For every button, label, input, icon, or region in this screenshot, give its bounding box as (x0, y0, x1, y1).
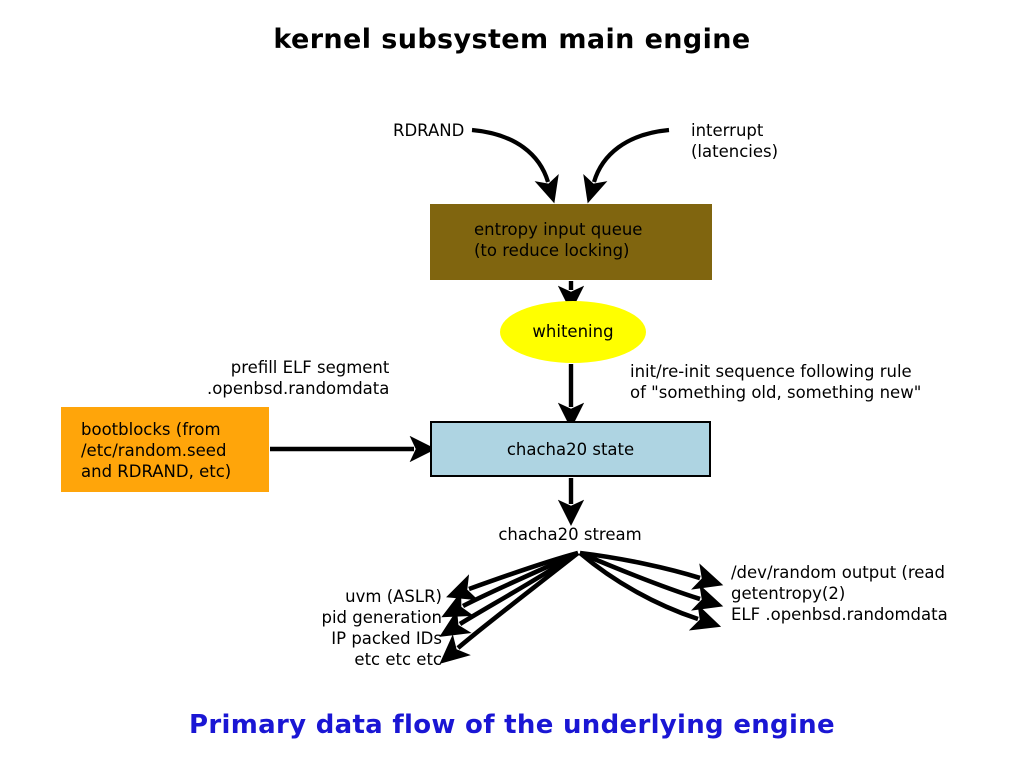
label-prefill-elf-segment: prefill ELF segment .openbsd.randomdata (207, 357, 389, 399)
node-entropy-input-queue-label: entropy input queue (to reduce locking) (474, 219, 642, 261)
node-chacha20-state[interactable]: chacha20 state (430, 421, 711, 477)
diagram-caption: Primary data flow of the underlying engi… (0, 710, 1024, 740)
edge-stream-fan-out-left-2 (463, 553, 578, 606)
label-consumers-left: uvm (ASLR) pid generation IP packed IDs … (310, 586, 442, 670)
edge-stream-fan-out-right-3 (580, 553, 698, 619)
node-chacha20-state-label: chacha20 state (432, 439, 709, 460)
label-init-reinit-sequence: init/re-init sequence following rule of … (630, 361, 921, 403)
node-whitening[interactable]: whitening (500, 301, 646, 363)
edge-stream-fan-out-right-2 (580, 553, 700, 599)
label-consumers-right: /dev/random output (read getentropy(2) E… (731, 562, 948, 625)
label-rdrand: RDRAND (393, 120, 464, 141)
node-bootblocks-label: bootblocks (from /etc/random.seed and RD… (81, 419, 231, 482)
edge-stream-fan-out-left-4 (458, 553, 578, 648)
edge-stream-fan-out-left-1 (469, 553, 578, 589)
node-whitening-label: whitening (500, 321, 646, 342)
page-title: kernel subsystem main engine (0, 24, 1024, 55)
edge-interrupt-to-entropy-queue (594, 130, 669, 182)
node-chacha20-stream-label: chacha20 stream (306, 524, 834, 545)
edge-rdrand-to-entropy-queue (472, 130, 548, 182)
diagram-canvas: kernel subsystem main engine (0, 0, 1024, 768)
node-bootblocks[interactable]: bootblocks (from /etc/random.seed and RD… (61, 407, 269, 492)
node-entropy-input-queue[interactable]: entropy input queue (to reduce locking) (430, 204, 712, 280)
label-interrupt: interrupt (latencies) (691, 120, 778, 162)
edge-stream-fan-out-left-3 (460, 553, 578, 624)
node-chacha20-stream[interactable]: chacha20 stream (306, 511, 834, 557)
